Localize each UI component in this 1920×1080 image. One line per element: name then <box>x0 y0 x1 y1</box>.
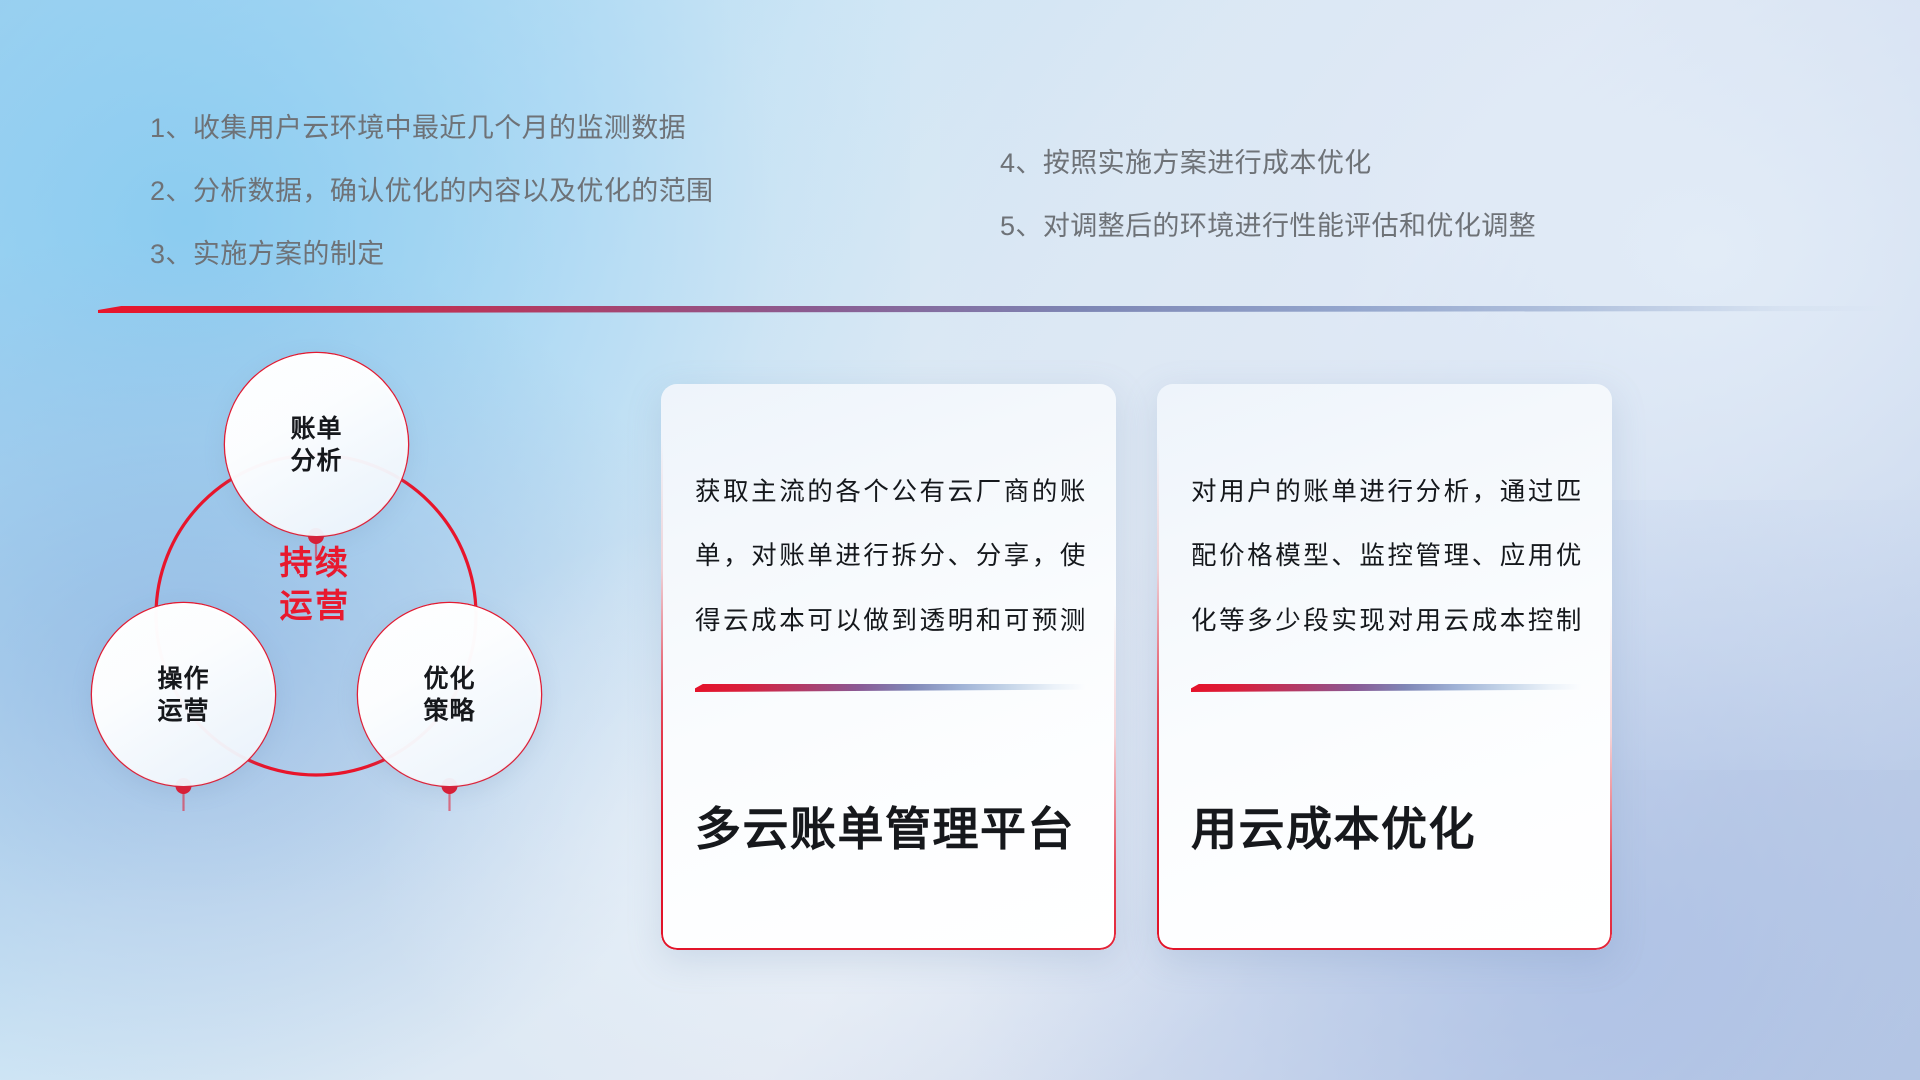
steps-right-column: 4、按照实施方案进行成本优化 5、对调整后的环境进行性能评估和优化调整 <box>1000 150 1536 276</box>
step-item-4: 4、按照实施方案进行成本优化 <box>1000 150 1536 177</box>
card-1-rule <box>695 684 1085 692</box>
bubble-bill-analysis-line1: 账单 <box>290 413 342 445</box>
bubble-bill-analysis-line2: 分析 <box>290 445 342 477</box>
step-item-2: 2、分析数据，确认优化的内容以及优化的范围 <box>150 178 713 205</box>
card-2-title: 用云成本优化 <box>1191 802 1582 857</box>
center-label-line2: 运营 <box>280 585 351 628</box>
bubble-operation-line2: 运营 <box>157 695 209 727</box>
bubble-bill-analysis[interactable]: 账单 分析 <box>225 353 408 536</box>
continuous-operation-diagram: 账单 分析 操作 运营 优化 策略 持续 运营 <box>90 345 670 965</box>
slide-canvas: 1、收集用户云环境中最近几个月的监测数据 2、分析数据，确认优化的内容以及优化的… <box>0 0 1920 1080</box>
step-item-3: 3、实施方案的制定 <box>150 241 713 268</box>
diagram-center-label: 持续 运营 <box>215 520 415 650</box>
card-2-rule <box>1191 684 1581 692</box>
bubble-operation-line1: 操作 <box>157 663 209 695</box>
card-multi-cloud-bill-platform[interactable]: 获取主流的各个公有云厂商的账单，对账单进行拆分、分享，使得云成本可以做到透明和可… <box>661 384 1116 950</box>
center-label-line1: 持续 <box>280 542 351 585</box>
card-cloud-cost-optimization[interactable]: 对用户的账单进行分析，通过匹配价格模型、监控管理、应用优化等多少段实现对用云成本… <box>1157 384 1612 950</box>
card-1-title: 多云账单管理平台 <box>695 802 1086 857</box>
step-item-1: 1、收集用户云环境中最近几个月的监测数据 <box>150 115 713 142</box>
bubble-optimization-strategy-line2: 策略 <box>423 695 475 727</box>
card-1-description: 获取主流的各个公有云厂商的账单，对账单进行拆分、分享，使得云成本可以做到透明和可… <box>695 460 1086 653</box>
steps-left-column: 1、收集用户云环境中最近几个月的监测数据 2、分析数据，确认优化的内容以及优化的… <box>150 115 713 304</box>
card-2-description: 对用户的账单进行分析，通过匹配价格模型、监控管理、应用优化等多少段实现对用云成本… <box>1191 460 1582 653</box>
step-item-5: 5、对调整后的环境进行性能评估和优化调整 <box>1000 213 1536 240</box>
bubble-optimization-strategy-line1: 优化 <box>423 663 475 695</box>
